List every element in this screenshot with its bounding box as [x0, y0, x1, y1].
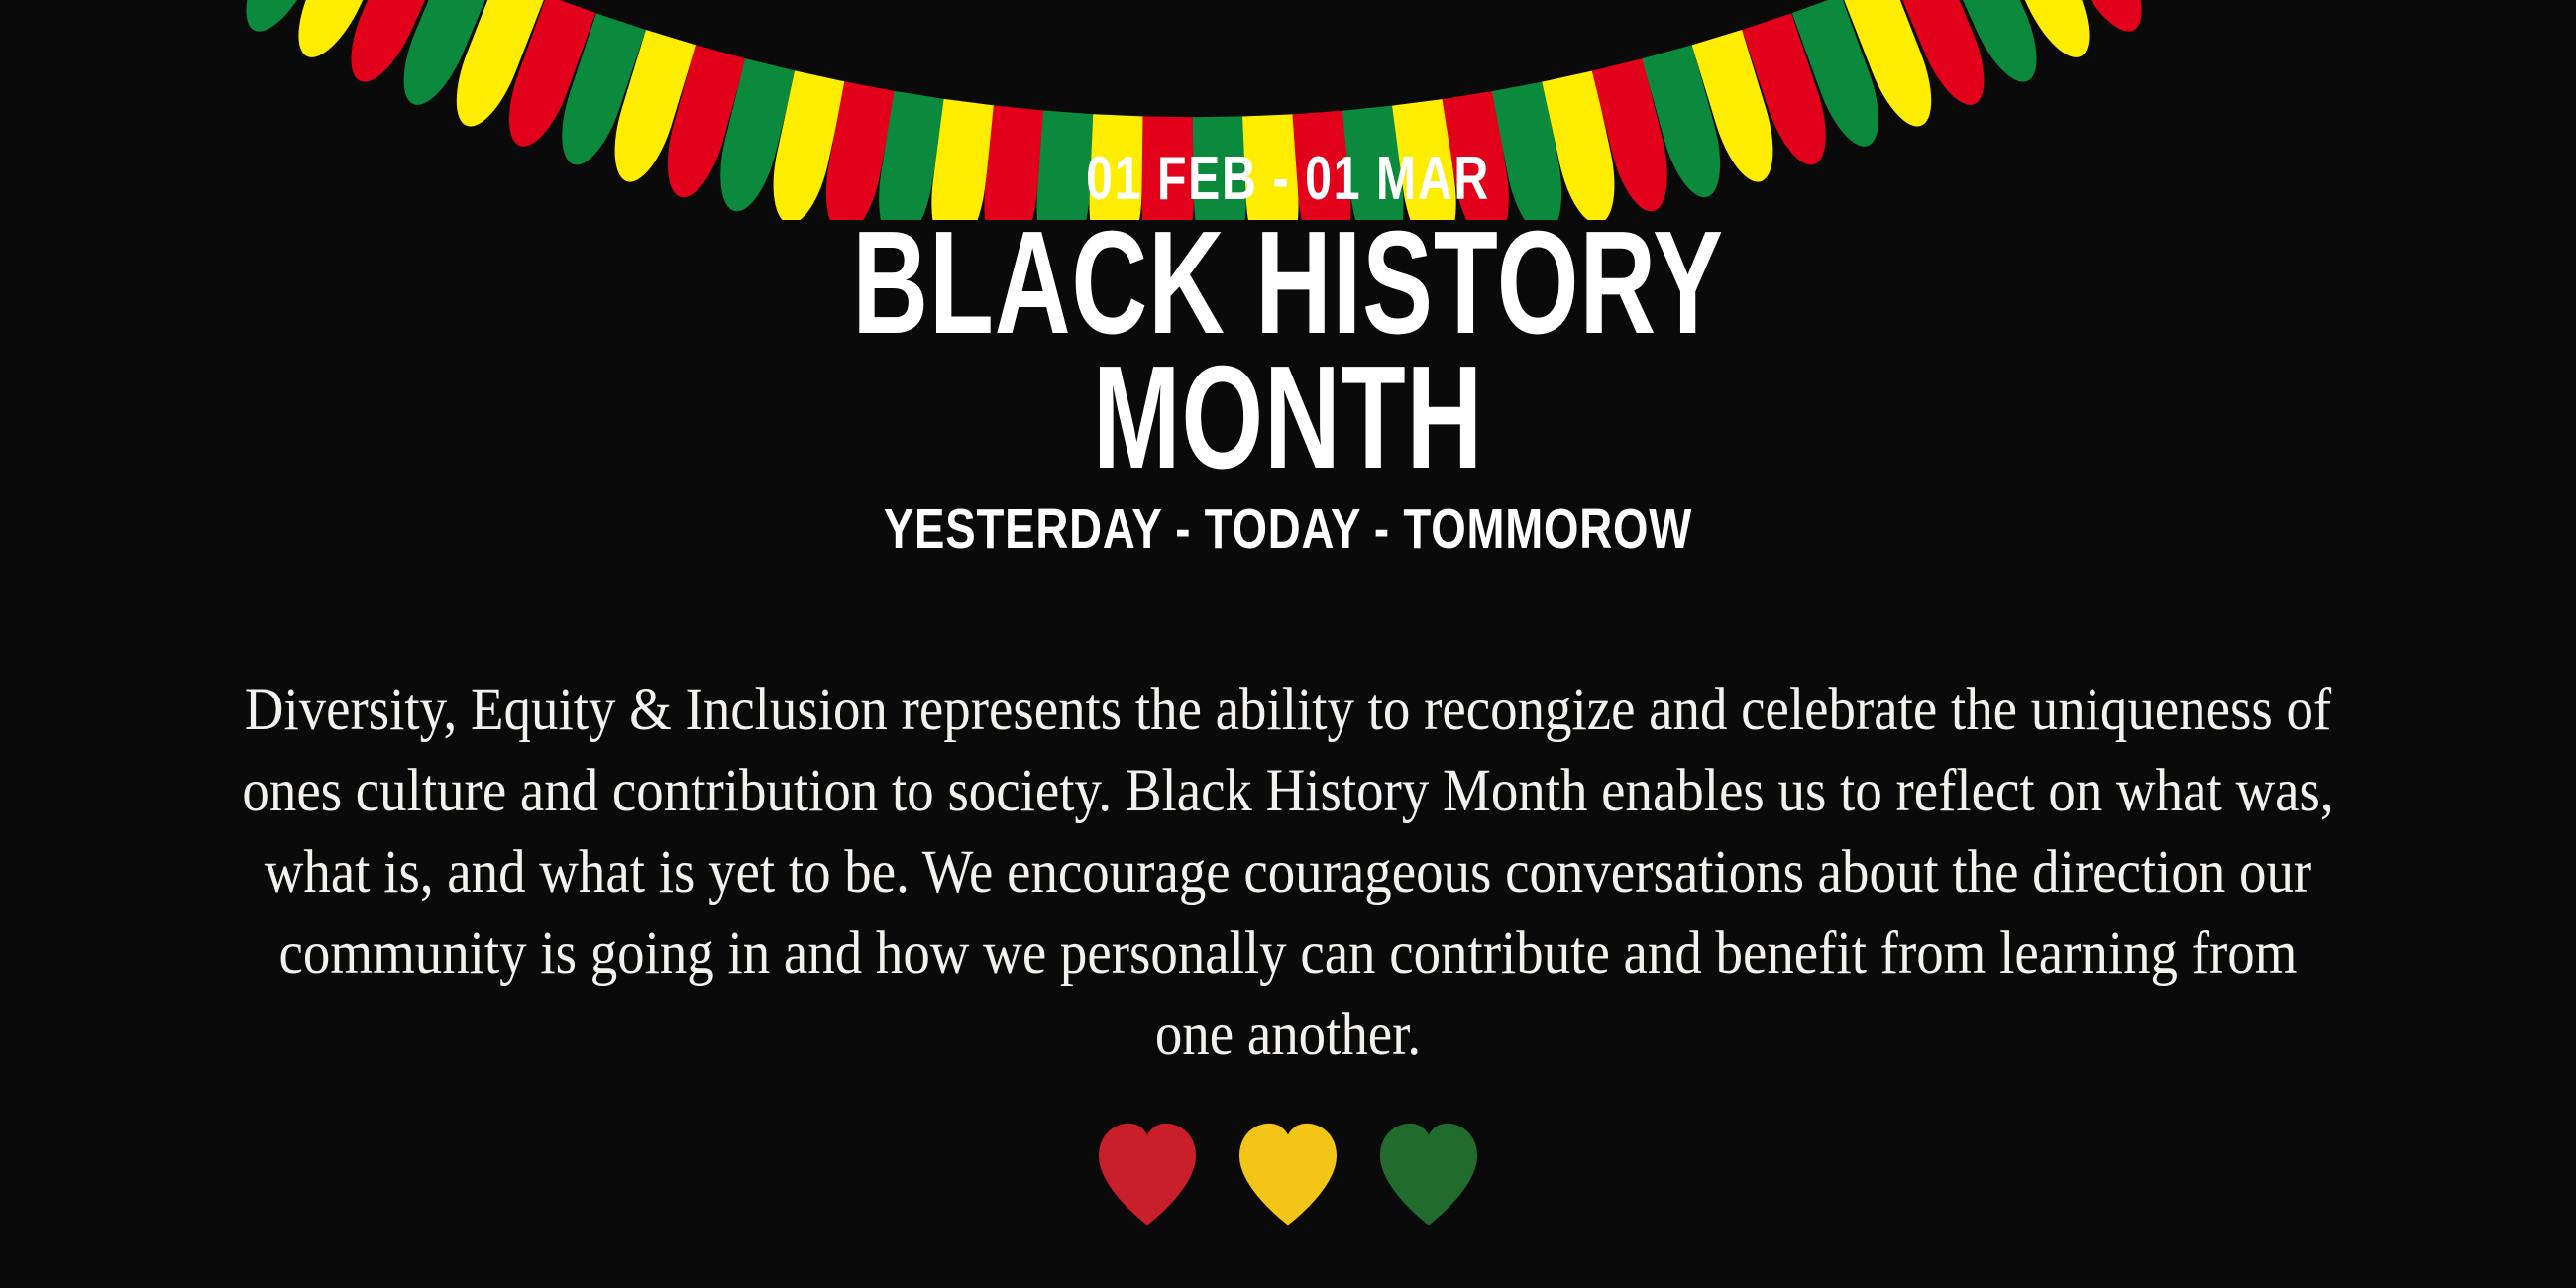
bunting-flag: [389, 0, 495, 114]
black-history-month-banner: 01 FEB - 01 MAR BLACK HISTORY MONTH YEST…: [0, 0, 2576, 1288]
heart-icon-green: [1369, 1118, 1488, 1229]
bunting-flag: [336, 0, 445, 91]
tagline: YESTERDAY - TODAY - TOMMOROW: [258, 501, 2318, 558]
bunting-flag: [231, 0, 346, 42]
bunting-flag: [1992, 0, 2104, 67]
bunting-flag: [442, 0, 545, 135]
bunting-flag: [2042, 0, 2157, 42]
bunting-flag: [1942, 0, 2051, 91]
heart-icon-red: [1088, 1118, 1207, 1229]
headline-block: 01 FEB - 01 MAR BLACK HISTORY MONTH YEST…: [0, 149, 2576, 558]
bunting-flag: [1892, 0, 1998, 114]
body-paragraph: Diversity, Equity & Inclusion represents…: [236, 670, 2340, 1076]
bunting-flag: [495, 0, 595, 155]
heart-icon-yellow: [1229, 1118, 1347, 1229]
page-title-line-1: BLACK HISTORY: [361, 216, 2215, 351]
bunting-flag: [283, 0, 395, 67]
hearts-row: [0, 1118, 2576, 1229]
page-title-line-2: MONTH: [361, 351, 2215, 485]
bunting-flag: [1792, 0, 1892, 155]
bunting-flag: [1842, 0, 1945, 135]
